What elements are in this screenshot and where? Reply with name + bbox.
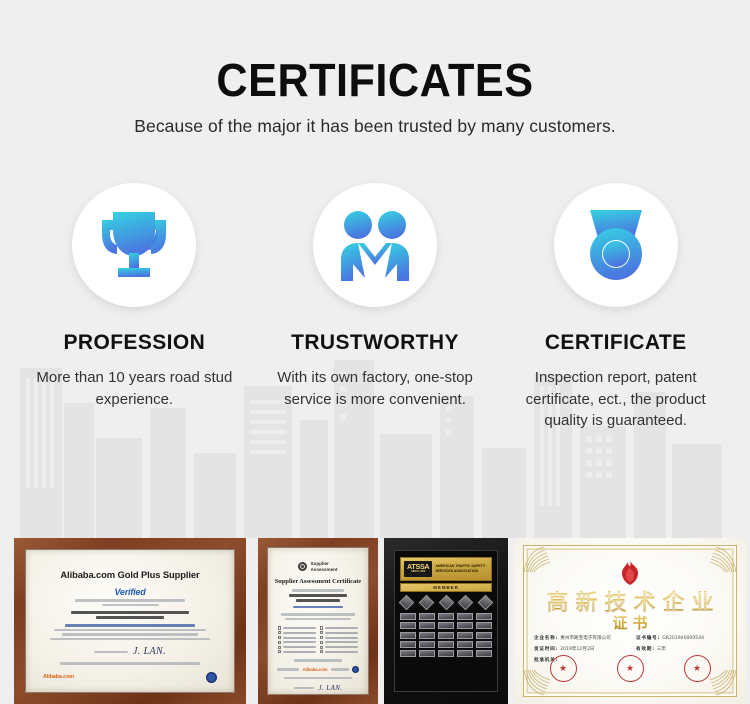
text-line: [325, 637, 358, 639]
text-line: [75, 599, 185, 601]
checklist-item: [320, 636, 358, 639]
checklist-item: [278, 646, 316, 649]
trophy-icon: [96, 209, 172, 281]
ornament-corner-icon: [704, 544, 738, 574]
certificate-image-strip: Alibaba.com Gold Plus Supplier Verified …: [0, 538, 750, 704]
field-validity: 有效期: 三年: [636, 646, 728, 652]
feature-description: Inspection report, patent certificate, e…: [503, 367, 728, 431]
checklist-item: [320, 626, 358, 629]
text-line: [277, 668, 299, 670]
text-line: [62, 633, 199, 635]
name-plate: [438, 641, 454, 648]
text-line: [283, 646, 316, 648]
checkbox-icon: [278, 631, 281, 634]
red-seal-icon: ★: [550, 655, 577, 682]
plate-grid: [400, 613, 492, 658]
text-line: [284, 677, 353, 679]
text-line: [281, 613, 355, 615]
feature-description: With its own factory, one-stop service i…: [263, 367, 488, 410]
text-line: [283, 627, 316, 629]
signature-value: J. LAN.: [133, 646, 166, 657]
certificate-image-atssa-plaque[interactable]: ATSSA SINCE 1969 AMERICAN TRAFFIC SAFETY…: [384, 538, 508, 704]
handshake-people-icon: [337, 209, 413, 281]
name-plate: [457, 613, 473, 620]
field-certificate-number: 证书编号: GR201940000544: [636, 635, 728, 641]
text-line: [283, 632, 316, 634]
diamond-plate: [438, 595, 454, 611]
atssa-logo: ATSSA SINCE 1969: [404, 561, 432, 577]
field-label: 有效期:: [636, 646, 655, 652]
signature-label: [294, 687, 314, 689]
name-plate: [419, 613, 435, 620]
text-line: [325, 646, 358, 648]
text-line: [65, 624, 194, 626]
checkbox-icon: [320, 650, 323, 653]
verified-badge: Verified: [35, 587, 225, 597]
text-line: [60, 662, 201, 664]
checkbox-icon: [320, 636, 323, 639]
plaque-inner: ATSSA SINCE 1969 AMERICAN TRAFFIC SAFETY…: [394, 550, 498, 692]
text-line: [294, 659, 342, 661]
medal-icon: [578, 208, 654, 282]
diamond-plate: [458, 595, 474, 611]
field-company-name: 企业名称: 惠州市路宝电子有限公司: [534, 635, 626, 641]
red-seal-icon: ★: [684, 655, 711, 682]
field-value: 2019年12月2日: [560, 646, 594, 652]
feature-title: TRUSTWORTHY: [263, 331, 488, 355]
name-plate: [419, 650, 435, 657]
name-plate: [400, 632, 416, 639]
checklist-item: [278, 641, 316, 644]
signature-row: J. LAN.: [35, 646, 225, 657]
checkbox-icon: [278, 636, 281, 639]
text-line: [292, 589, 345, 591]
text-line: [289, 594, 347, 597]
page-title: CERTIFICATES: [23, 56, 728, 104]
name-plate: [476, 622, 492, 629]
text-line: [50, 638, 210, 640]
diamond-plate: [478, 595, 494, 611]
feature-profession: PROFESSION More than 10 years road stud …: [14, 183, 255, 431]
diamond-row: [400, 597, 492, 608]
checkbox-icon: [278, 646, 281, 649]
signature-value: J. LAN.: [319, 684, 343, 692]
star-glyph: ★: [559, 664, 567, 673]
text-line: [325, 651, 358, 653]
checklist-item: [320, 650, 358, 653]
page-subtitle: Because of the major it has been trusted…: [0, 116, 750, 137]
feature-title: PROFESSION: [22, 331, 247, 355]
checkbox-icon: [278, 650, 281, 653]
checklist-item: [278, 636, 316, 639]
field-label: 发证时间:: [534, 646, 558, 652]
certificate-title: Supplier Assessment Certificate: [274, 578, 362, 585]
field-label: 企业名称:: [534, 635, 558, 641]
field-value: 惠州市路宝电子有限公司: [560, 635, 611, 641]
feature-icon-circle: [313, 183, 437, 307]
text-line: [296, 599, 340, 602]
supplier-assessment-badge: Supplier Assessment: [274, 561, 362, 572]
name-plate: [438, 613, 454, 620]
certificate-subtitle: 证书: [514, 612, 746, 633]
name-plate: [419, 632, 435, 639]
signature-row: J. LAN.: [274, 684, 362, 692]
checkbox-icon: [320, 646, 323, 649]
certificate-footer: Alibaba.com: [35, 672, 225, 683]
star-glyph: ★: [626, 664, 634, 673]
assessment-checklist: [274, 626, 362, 653]
field-value: GR201940000544: [662, 636, 704, 641]
checklist-item: [278, 631, 316, 634]
certificate-paper: Alibaba.com Gold Plus Supplier Verified …: [25, 549, 235, 693]
alibaba-brand-logo: Alibaba.com: [43, 674, 74, 680]
certificate-paper: Supplier Assessment Supplier Assessment …: [267, 547, 369, 695]
diamond-plate: [418, 595, 434, 611]
feature-trustworthy: TRUSTWORTHY With its own factory, one-st…: [255, 183, 496, 431]
text-line: [325, 632, 358, 634]
name-plate: [400, 641, 416, 648]
checkbox-icon: [278, 641, 281, 644]
page-header: CERTIFICATES Because of the major it has…: [0, 0, 750, 137]
checklist-item: [320, 646, 358, 649]
badge-text: Supplier Assessment: [310, 561, 337, 572]
atssa-gold-plate: ATSSA SINCE 1969 AMERICAN TRAFFIC SAFETY…: [400, 557, 492, 581]
text-line: [283, 637, 316, 639]
seal-icon: [352, 666, 359, 673]
name-plate: [400, 613, 416, 620]
name-plate: [457, 632, 473, 639]
diamond-plate: [399, 595, 415, 611]
text-line: [293, 606, 342, 608]
member-badge: MEMBER: [400, 583, 492, 592]
checklist-item: [278, 650, 316, 653]
field-value: 三年: [657, 646, 666, 652]
badge-line-2: Assessment: [310, 567, 337, 572]
feature-description: More than 10 years road stud experience.: [22, 367, 247, 410]
atssa-logo-subtext: SINCE 1969: [407, 571, 429, 574]
shield-check-icon: [298, 562, 307, 571]
star-glyph: ★: [693, 664, 701, 673]
association-name: AMERICAN TRAFFIC SAFETY SERVICES ASSOCIA…: [435, 564, 488, 574]
field-label: 证书编号:: [636, 635, 660, 641]
text-line: [285, 618, 352, 620]
name-plate: [419, 641, 435, 648]
name-plate: [400, 650, 416, 657]
signature-label: [94, 651, 128, 653]
name-plate: [476, 650, 492, 657]
certificate-image-high-tech-enterprise[interactable]: 高新技术企业 证书 企业名称: 惠州市路宝电子有限公司 证书编号: GR2019…: [514, 538, 746, 704]
official-seals: ★ ★ ★: [514, 655, 746, 682]
checkbox-icon: [278, 626, 281, 629]
checklist-item: [320, 641, 358, 644]
text-line: [96, 616, 164, 619]
text-line: [325, 627, 358, 629]
feature-title: CERTIFICATE: [503, 331, 728, 355]
checkbox-icon: [320, 641, 323, 644]
name-plate: [400, 622, 416, 629]
checklist-item: [320, 631, 358, 634]
feature-icon-circle: [72, 183, 196, 307]
ornament-corner-icon: [522, 544, 556, 574]
name-plate: [457, 641, 473, 648]
certificate-paper: 高新技术企业 证书 企业名称: 惠州市路宝电子有限公司 证书编号: GR2019…: [514, 538, 746, 704]
certificate-image-alibaba[interactable]: Alibaba.com Gold Plus Supplier Verified …: [14, 538, 246, 704]
name-plate: [476, 641, 492, 648]
text-line: [283, 641, 316, 643]
name-plate: [457, 650, 473, 657]
badge-line-1: Supplier: [310, 561, 328, 566]
seal-icon: [206, 672, 217, 683]
name-plate: [419, 622, 435, 629]
name-plate: [438, 650, 454, 657]
text-line: [283, 651, 316, 653]
certificate-image-supplier-assessment[interactable]: Supplier Assessment Supplier Assessment …: [258, 538, 378, 704]
feature-certificate: CERTIFICATE Inspection report, patent ce…: [495, 183, 736, 431]
name-plate: [438, 632, 454, 639]
flame-emblem-icon: [617, 560, 643, 586]
name-plate: [457, 622, 473, 629]
text-line: [325, 641, 358, 643]
checklist-item: [278, 626, 316, 629]
text-line: [71, 611, 189, 614]
feature-list: PROFESSION More than 10 years road stud …: [0, 183, 750, 431]
checkbox-icon: [320, 631, 323, 634]
feature-icon-circle: [554, 183, 678, 307]
name-plate: [438, 622, 454, 629]
field-issue-date: 发证时间: 2019年12月2日: [534, 646, 626, 652]
text-line: [102, 604, 159, 606]
certificates-page: CERTIFICATES Because of the major it has…: [0, 0, 750, 704]
name-plate: [476, 613, 492, 620]
certificate-title: Alibaba.com Gold Plus Supplier: [35, 569, 225, 580]
name-plate: [476, 632, 492, 639]
text-line: [331, 668, 349, 670]
red-seal-icon: ★: [617, 655, 644, 682]
alibaba-brand-logo: Alibaba.com: [302, 667, 327, 672]
text-line: [54, 629, 206, 631]
signature-row: Alibaba.com: [274, 666, 362, 673]
checkbox-icon: [320, 626, 323, 629]
